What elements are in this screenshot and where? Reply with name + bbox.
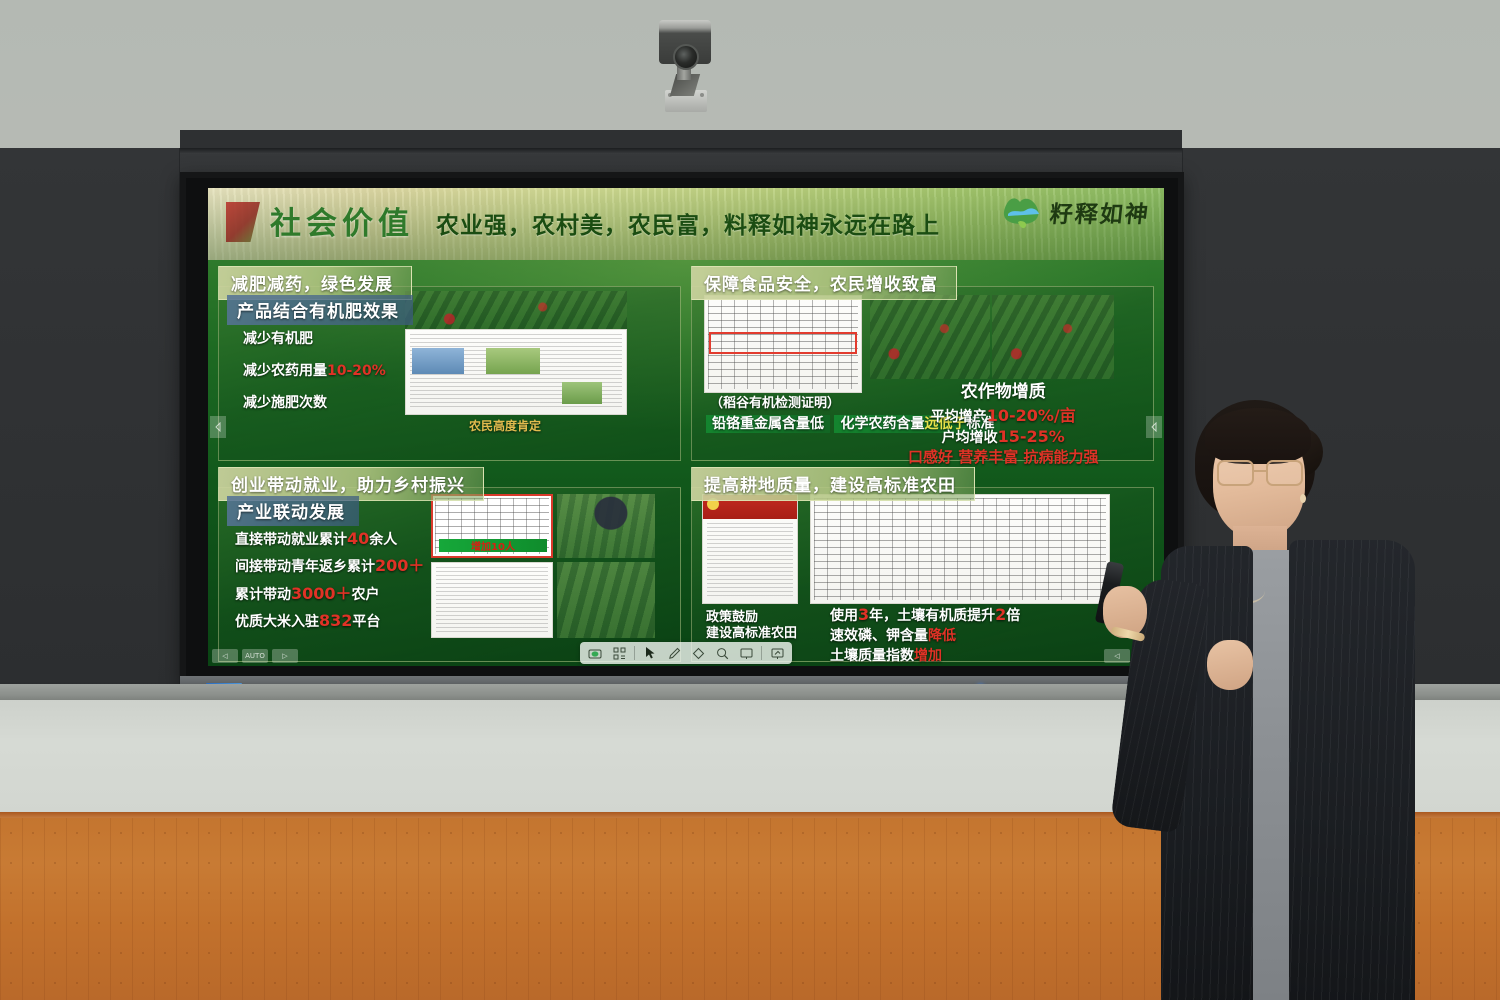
quadrant-heading: 提高耕地质量，建设高标准农田 [691,467,975,501]
bullet-mid: 年，土壤有机质提升 [869,608,995,624]
farmer-working-photo [557,494,655,558]
bullet-text: 优质大米入驻 [235,614,319,630]
bullet-accent: 15-25% [998,427,1065,446]
bullet-item: 直接带动就业累计40余人 [235,530,424,548]
bullet-text: 直接带动就业累计 [235,532,347,548]
quadrant-grid: 减肥减药，绿色发展 产品结合有机肥效果 农民高度肯 [218,266,1154,662]
slide-title: 社会价值 [270,198,414,243]
quadrant-subheading: 产品结合有机肥效果 [227,295,413,325]
quadrant-employment: 创业带动就业，助力乡村振兴 产业联动发展 增加10人 [218,467,681,662]
header-ribbon-mark [226,202,260,242]
ceiling-camera [655,8,717,112]
annotate-icon[interactable] [766,644,788,662]
policy-caption: 政策鼓励 建设高标准农田 [706,610,797,643]
classroom-scene: 社会价值 农业强，农村美，农民富，料释如神永远在路上 籽释如神 [0,0,1500,1000]
earring [1300,494,1306,503]
corner-controls-left[interactable]: ◁ AUTO ▷ [212,649,298,663]
camera-body [659,20,711,64]
bullet-text: 铅铬重金属含量低 [712,416,824,432]
display-screen[interactable]: 社会价值 农业强，农村美，农民富，料释如神永远在路上 籽释如神 [208,188,1164,666]
document-lines [436,567,548,633]
screen-icon[interactable] [735,644,757,662]
bullet-tail: 农户 [352,587,380,603]
glasses-lens-left [1217,460,1254,486]
bullet-item: 平均增产10-20%/亩 [908,407,1098,425]
employment-record-doc: 增加10人 [431,494,553,558]
slide-body: 减肥减药，绿色发展 产品结合有机肥效果 农民高度肯 [208,260,1164,666]
right-hand [1207,640,1253,690]
bullet-text: 速效磷、钾含量 [830,628,928,644]
presentation-slide[interactable]: 社会价值 农业强，农村美，农民富，料释如神永远在路上 籽释如神 [208,188,1164,666]
magnifier-glyph [716,647,729,660]
bullet-accent: 3000＋ [291,584,352,603]
bullet-item: 速效磷、钾含量降低 [830,628,1020,644]
caption-line-1: 政策鼓励 [706,610,797,626]
bullet-tail: 平台 [352,614,380,630]
certificate-caption: （稻谷有机检测证明） [710,397,840,412]
bullet-text: 减少施肥次数 [243,395,327,411]
blazer-right-panel [1289,540,1415,1000]
bullet-item: 铅铬重金属含量低 [706,415,830,433]
presenter [1075,390,1500,1000]
prev-slide-arrow[interactable] [210,416,226,438]
screen-glyph [740,647,753,660]
right-block-title: 农作物增质 [908,383,1098,403]
bullet-text: 减少农药用量 [243,363,327,379]
glasses-lens-right [1266,460,1303,486]
pen-glyph [668,647,681,660]
bullet-accent-2: 2 [995,605,1006,624]
bullet-item: 土壤质量指数增加 [830,648,1020,664]
bullet-item: 间接带动青年返乡累计200＋ [235,557,424,575]
home-glyph [588,647,602,660]
slide-subtitle: 农业强，农村美，农民富，料释如神永远在路上 [436,206,940,240]
increase-badge: 增加10人 [439,539,547,552]
organic-test-certificate [704,295,862,393]
doc-thumb-2 [486,348,540,374]
bullet-accent: 40 [347,529,369,548]
bullet-text: 使用 [830,608,858,624]
quadrant-reduce-fertilizer: 减肥减药，绿色发展 产品结合有机肥效果 农民高度肯 [218,266,681,461]
bullet-accent: 200＋ [375,556,424,575]
ministry-policy-screenshot [702,494,798,604]
cursor-glyph [645,646,656,660]
bullet-text: 累计带动 [235,587,291,603]
bullet-accent: 10-20% [327,363,386,379]
quadrant-panel: 产业联动发展 增加10人 [218,487,681,662]
soil-data-table [814,498,1106,600]
corner-button-auto[interactable]: AUTO [242,649,268,663]
cursor-icon[interactable] [639,644,661,662]
brand-logo: 籽释如神 [1000,192,1150,232]
bullet-item: 减少施肥次数 [243,395,386,411]
bullet-text: 户均增收 [942,430,998,446]
camera-lens-icon [673,44,699,70]
bullet-accent: 10-20%/亩 [987,406,1076,425]
bullet-text: 减少有机肥 [243,331,313,347]
strawberry-field-photo-2 [992,295,1114,379]
doc-thumb-1 [412,348,464,374]
magnifier-icon[interactable] [711,644,733,662]
bullet-accent: 832 [319,611,352,630]
mountain-leaf-icon [1000,192,1044,232]
crop-photo [405,291,627,331]
bullet-tail: 倍 [1006,608,1020,624]
annotation-toolbar[interactable] [580,642,792,664]
bullet-accent: 降低 [928,628,956,644]
glasses-icon [1215,460,1305,486]
strawberry-field-photo-1 [870,295,990,379]
corner-button-next[interactable]: ▷ [272,649,298,663]
document-lines [707,523,793,599]
agreement-document [431,562,553,638]
caption-line-2: 建设高标准农田 [706,626,797,642]
bullet-item: 减少农药用量10-20% [243,363,386,379]
bullet-tail: 余人 [369,532,397,548]
bullet-item: 口感好 营养丰富 抗病能力强 [908,449,1098,466]
hair-front [1205,408,1311,464]
bullet-accent: 3 [858,605,869,624]
bullet-item: 户均增收15-25% [908,428,1098,446]
glasses-bridge [1254,470,1266,472]
quadrant-heading: 保障食品安全，农民增收致富 [691,266,957,300]
bullet-item: 优质大米入驻832平台 [235,612,424,630]
eraser-glyph [692,647,705,660]
grid-glyph [613,647,626,660]
bullet-text: 间接带动青年返乡累计 [235,559,375,575]
corner-button-prev[interactable]: ◁ [212,649,238,663]
bullet-text: 平均增产 [931,409,987,425]
quadrant-subheading: 产业联动发展 [227,496,359,526]
home-icon[interactable] [584,644,606,662]
bullet-text: 土壤质量指数 [830,648,914,664]
highlight-box [709,332,857,354]
blackboard-wing-left [0,148,180,700]
annotate-glyph [771,647,784,660]
apps-grid-icon[interactable] [608,644,630,662]
bullet-item: 使用3年，土壤有机质提升2倍 [830,606,1020,624]
bullet-item: 减少有机肥 [243,331,386,347]
bullet-accent: 增加 [914,648,942,664]
slide-header: 社会价值 农业强，农村美，农民富，料释如神永远在路上 籽释如神 [208,188,1164,260]
toolbar-divider [761,646,762,660]
chevron-left-icon [214,422,222,432]
interactive-flat-panel[interactable]: 社会价值 农业强，农村美，农民富，料释如神永远在路上 籽释如神 [180,172,1184,684]
bullet-item: 累计带动3000＋农户 [235,585,424,603]
brand-name: 籽释如神 [1048,195,1152,229]
eraser-icon[interactable] [687,644,709,662]
pen-icon[interactable] [663,644,685,662]
greenhouse-photo [557,562,655,638]
soil-test-reports [810,494,1110,604]
report-screenshot [405,329,627,415]
photo-caption: 农民高度肯定 [469,417,541,434]
doc-thumb-3 [562,382,602,404]
quadrant-panel: 产品结合有机肥效果 农民高度肯定 [218,286,681,461]
toolbar-divider [634,646,635,660]
